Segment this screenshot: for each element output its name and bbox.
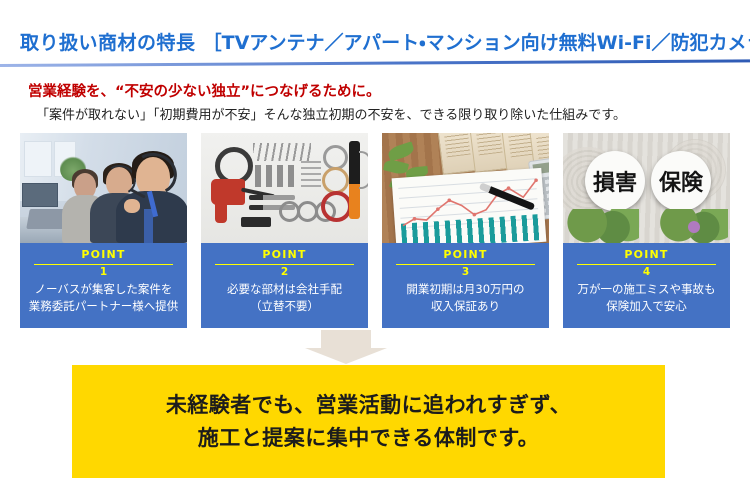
point-number: 2 [205, 266, 364, 279]
tool-handle [215, 201, 227, 223]
page-title-bracket: ［TVアンテナ／アパート・マンション向け無料Wi-Fi／防犯カメラ］ [203, 32, 750, 54]
page-title: 取り扱い商材の特長 ［TVアンテナ／アパート・マンション向け無料Wi-Fi／防犯… [20, 28, 750, 55]
slide-canvas: 取り扱い商材の特長 ［TVアンテナ／アパート・マンション向け無料Wi-Fi／防犯… [0, 0, 750, 500]
point-label: POINT [386, 248, 545, 262]
point-card-1-body: POINT 1 ノーバスが集客した案件を 業務委託パートナー様へ提供 [20, 243, 187, 328]
cable-ties-group [301, 161, 321, 187]
point-description-line2: 業務委託パートナー様へ提供 [24, 298, 183, 315]
down-arrow-icon [305, 330, 387, 366]
point-description: 万が一の施工ミスや事故も 保険加入で安心 [567, 281, 726, 314]
point-divider [577, 264, 717, 266]
point-label: POINT [205, 248, 364, 262]
point-number: 3 [386, 266, 545, 279]
page-title-main: 取り扱い商材の特長 [20, 32, 196, 54]
point-card-3[interactable]: POINT 3 開業初期は月30万円の 収入保証あり [382, 133, 549, 328]
point-description-line1: ノーバスが集客した案件を [24, 281, 183, 298]
point-divider [215, 264, 355, 266]
screws-group [253, 143, 311, 161]
point-label: POINT [24, 248, 183, 262]
point-description-line2: （立替不要） [205, 298, 364, 315]
point-number: 1 [24, 266, 183, 279]
point-description: ノーバスが集客した案件を 業務委託パートナー様へ提供 [24, 281, 183, 314]
point-card-3-body: POINT 3 開業初期は月30万円の 収入保証あり [382, 243, 549, 328]
flower-icon [688, 221, 700, 233]
arrow-shaft [321, 330, 371, 350]
point-card-4-body: POINT 4 万が一の施工ミスや事故も 保険加入で安心 [563, 243, 730, 328]
point-divider [396, 264, 536, 266]
knife-clip [359, 151, 368, 189]
badge-insurance: 保険 [651, 151, 711, 211]
header-divider [0, 59, 750, 67]
monitor-shape [22, 183, 58, 207]
tools-and-parts-photo [201, 133, 368, 243]
point-description: 開業初期は月30万円の 収入保証あり [386, 281, 545, 314]
chart-and-money-photo [382, 133, 549, 243]
connector-block [241, 217, 271, 227]
point-label: POINT [567, 248, 726, 262]
call-center-operators-photo [20, 133, 187, 243]
point-description-line2: 収入保証あり [386, 298, 545, 315]
lead-headline: 営業経験を、“不安の少ない独立”につなげるために。 [28, 80, 381, 101]
point-card-2[interactable]: POINT 2 必要な部材は会社手配 （立替不要） [201, 133, 368, 328]
summary-banner-line1: 未経験者でも、営業活動に追われすぎず、 [166, 389, 571, 422]
point-card-4[interactable]: 損害 保険 POINT 4 万が一の施工ミスや事故も 保険加入で安心 [563, 133, 730, 328]
screwdriver-icon [249, 195, 295, 200]
arrow-head [305, 348, 387, 364]
point-description-line1: 万が一の施工ミスや事故も [567, 281, 726, 298]
insurance-badges-photo: 損害 保険 [563, 133, 730, 243]
point-card-2-body: POINT 2 必要な部材は会社手配 （立替不要） [201, 243, 368, 328]
point-description-line2: 保険加入で安心 [567, 298, 726, 315]
summary-banner: 未経験者でも、営業活動に追われすぎず、 施工と提案に集中できる体制です。 [72, 365, 665, 478]
point-description: 必要な部材は会社手配 （立替不要） [205, 281, 364, 314]
point-description-line1: 開業初期は月30万円の [386, 281, 545, 298]
bolts-group [255, 165, 299, 187]
lead-subline: 「案件が取れない」「初期費用が不安」そんな独立初期の不安を、できる限り取り除いた… [36, 104, 626, 123]
foliage-decoration [565, 209, 639, 243]
copper-coil-part [322, 167, 349, 194]
point-divider [34, 264, 174, 266]
badge-damage: 損害 [585, 151, 645, 211]
red-coil-part [321, 191, 352, 222]
window-pane [24, 141, 52, 177]
point-description-line1: 必要な部材は会社手配 [205, 281, 364, 298]
point-number: 4 [567, 266, 726, 279]
point-card-list: POINT 1 ノーバスが集客した案件を 業務委託パートナー様へ提供 [20, 133, 732, 328]
hand-shape [124, 199, 140, 213]
summary-banner-line2: 施工と提案に集中できる体制です。 [198, 422, 539, 455]
point-card-1[interactable]: POINT 1 ノーバスが集客した案件を 業務委託パートナー様へ提供 [20, 133, 187, 328]
